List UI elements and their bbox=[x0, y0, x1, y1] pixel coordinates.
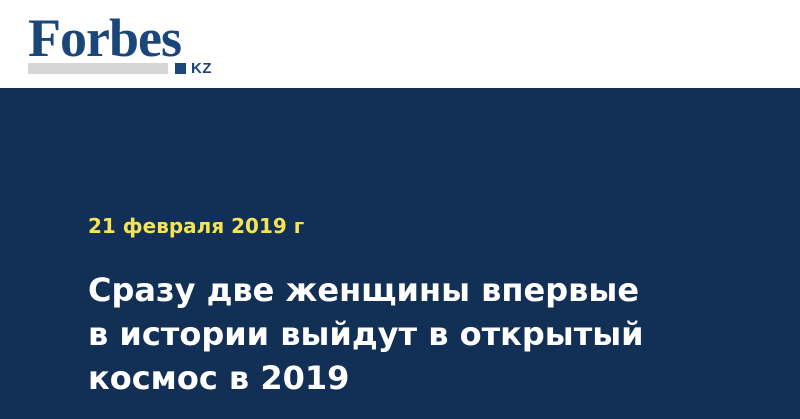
article-hero: 21 февраля 2019 г Сразу две женщины впер… bbox=[0, 88, 800, 419]
forbes-kz-logo[interactable]: Forbes KZ bbox=[28, 11, 238, 79]
article-card: Forbes KZ 21 февраля 2019 г Сразу две же… bbox=[0, 0, 800, 419]
gray-bar-icon bbox=[28, 63, 168, 74]
forbes-wordmark: Forbes bbox=[28, 11, 181, 65]
article-date: 21 февраля 2019 г bbox=[88, 214, 304, 238]
site-header: Forbes KZ bbox=[0, 0, 800, 88]
blue-square-icon bbox=[175, 63, 186, 74]
article-headline[interactable]: Сразу две женщины впервые в истории выйд… bbox=[88, 268, 668, 400]
logo-country-code: KZ bbox=[191, 61, 212, 76]
